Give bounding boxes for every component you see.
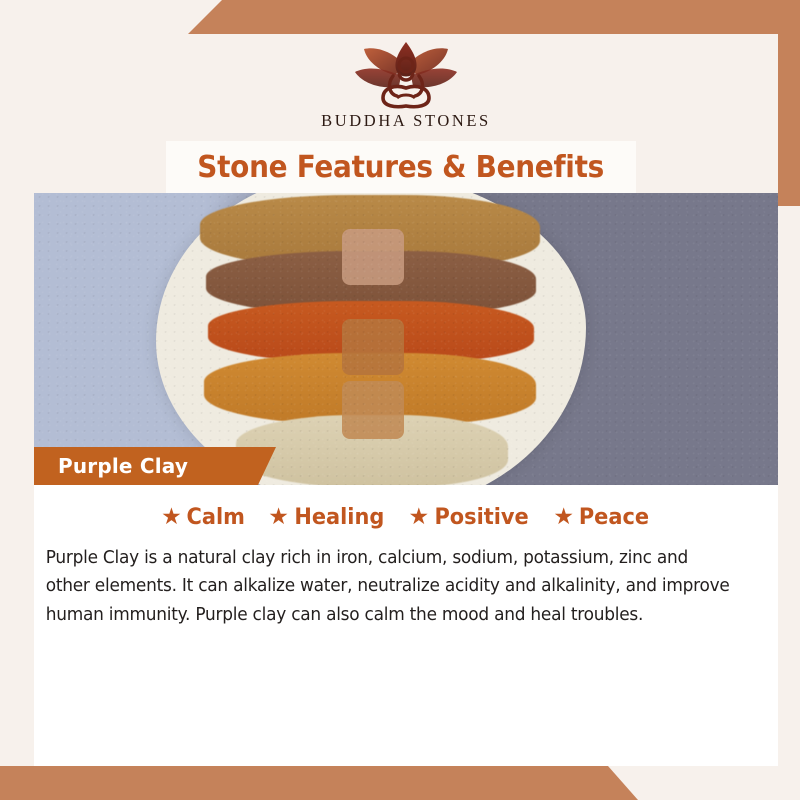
benefit-label: Positive xyxy=(435,505,529,530)
product-description: Purple Clay is a natural clay rich in ir… xyxy=(34,544,759,629)
frame-border-right xyxy=(778,0,800,800)
product-label: Purple Clay xyxy=(58,454,188,478)
product-photo xyxy=(34,193,778,485)
brand-name: BUDDHA STONES xyxy=(321,111,491,131)
benefit-item-calm: ★ Calm xyxy=(161,505,246,530)
star-icon: ★ xyxy=(161,506,182,529)
product-label-banner: Purple Clay xyxy=(34,447,276,485)
page-title: Stone Features & Benefits xyxy=(198,150,605,185)
benefit-item-positive: ★ Positive xyxy=(409,505,532,530)
star-icon: ★ xyxy=(268,506,289,529)
brand-header: BUDDHA STONES xyxy=(34,34,778,142)
benefit-label: Healing xyxy=(294,505,384,530)
lotus-meditation-icon xyxy=(331,36,481,110)
clay-chip xyxy=(342,229,404,285)
benefits-row: ★ Calm ★ Healing ★ Positive ★ Peace xyxy=(34,485,778,530)
content-section: ★ Calm ★ Healing ★ Positive ★ Peace Purp… xyxy=(34,485,778,766)
star-icon: ★ xyxy=(553,506,574,529)
page-title-band: Stone Features & Benefits xyxy=(166,141,636,193)
benefit-label: Peace xyxy=(579,505,649,530)
frame-border-bottom xyxy=(0,766,800,800)
benefit-label: Calm xyxy=(186,505,244,530)
benefit-item-healing: ★ Healing xyxy=(268,505,386,530)
clay-chip xyxy=(342,381,404,439)
brand-logo: BUDDHA STONES xyxy=(321,36,491,131)
star-icon: ★ xyxy=(409,506,430,529)
clay-chip xyxy=(342,319,404,375)
clay-powder-stack xyxy=(200,193,540,485)
benefit-item-peace: ★ Peace xyxy=(553,505,650,530)
frame-border-top xyxy=(0,0,800,34)
infographic-page: BUDDHA STONES Stone Features & Benefits … xyxy=(0,0,800,800)
